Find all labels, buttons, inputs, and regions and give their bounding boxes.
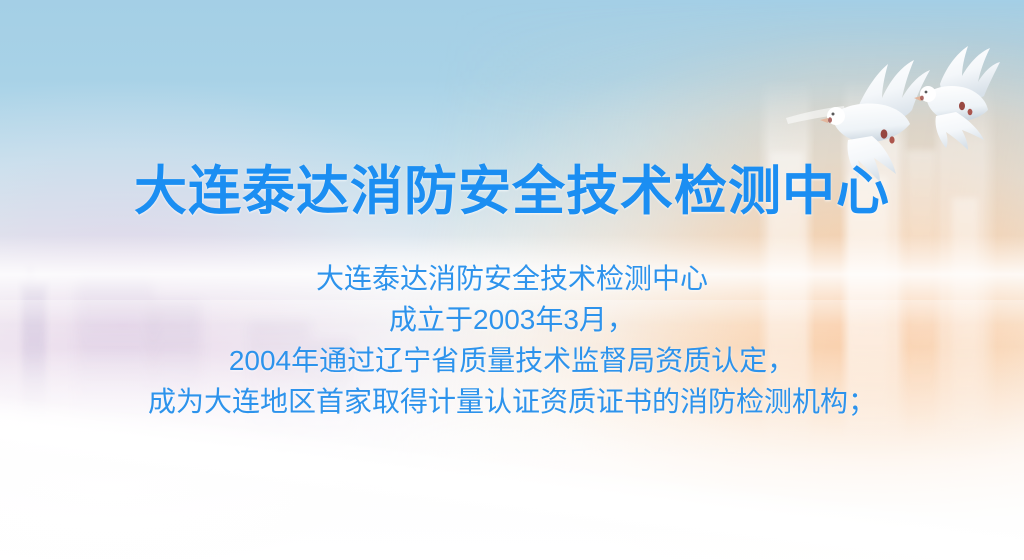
body-line-4: 成为大连地区首家取得计量认证资质证书的消防检测机构； (148, 381, 876, 422)
body-line-1: 大连泰达消防安全技术检测中心 (148, 258, 876, 299)
slide-body: 大连泰达消防安全技术检测中心 成立于2003年3月， 2004年通过辽宁省质量技… (148, 258, 876, 422)
slide-title: 大连泰达消防安全技术检测中心 (134, 163, 890, 220)
body-line-2: 成立于2003年3月， (148, 299, 876, 340)
slide-canvas: 大连泰达消防安全技术检测中心 大连泰达消防安全技术检测中心 成立于2003年3月… (0, 0, 1024, 560)
body-line-3: 2004年通过辽宁省质量技术监督局资质认定， (148, 340, 876, 381)
slide-content: 大连泰达消防安全技术检测中心 大连泰达消防安全技术检测中心 成立于2003年3月… (0, 0, 1024, 560)
